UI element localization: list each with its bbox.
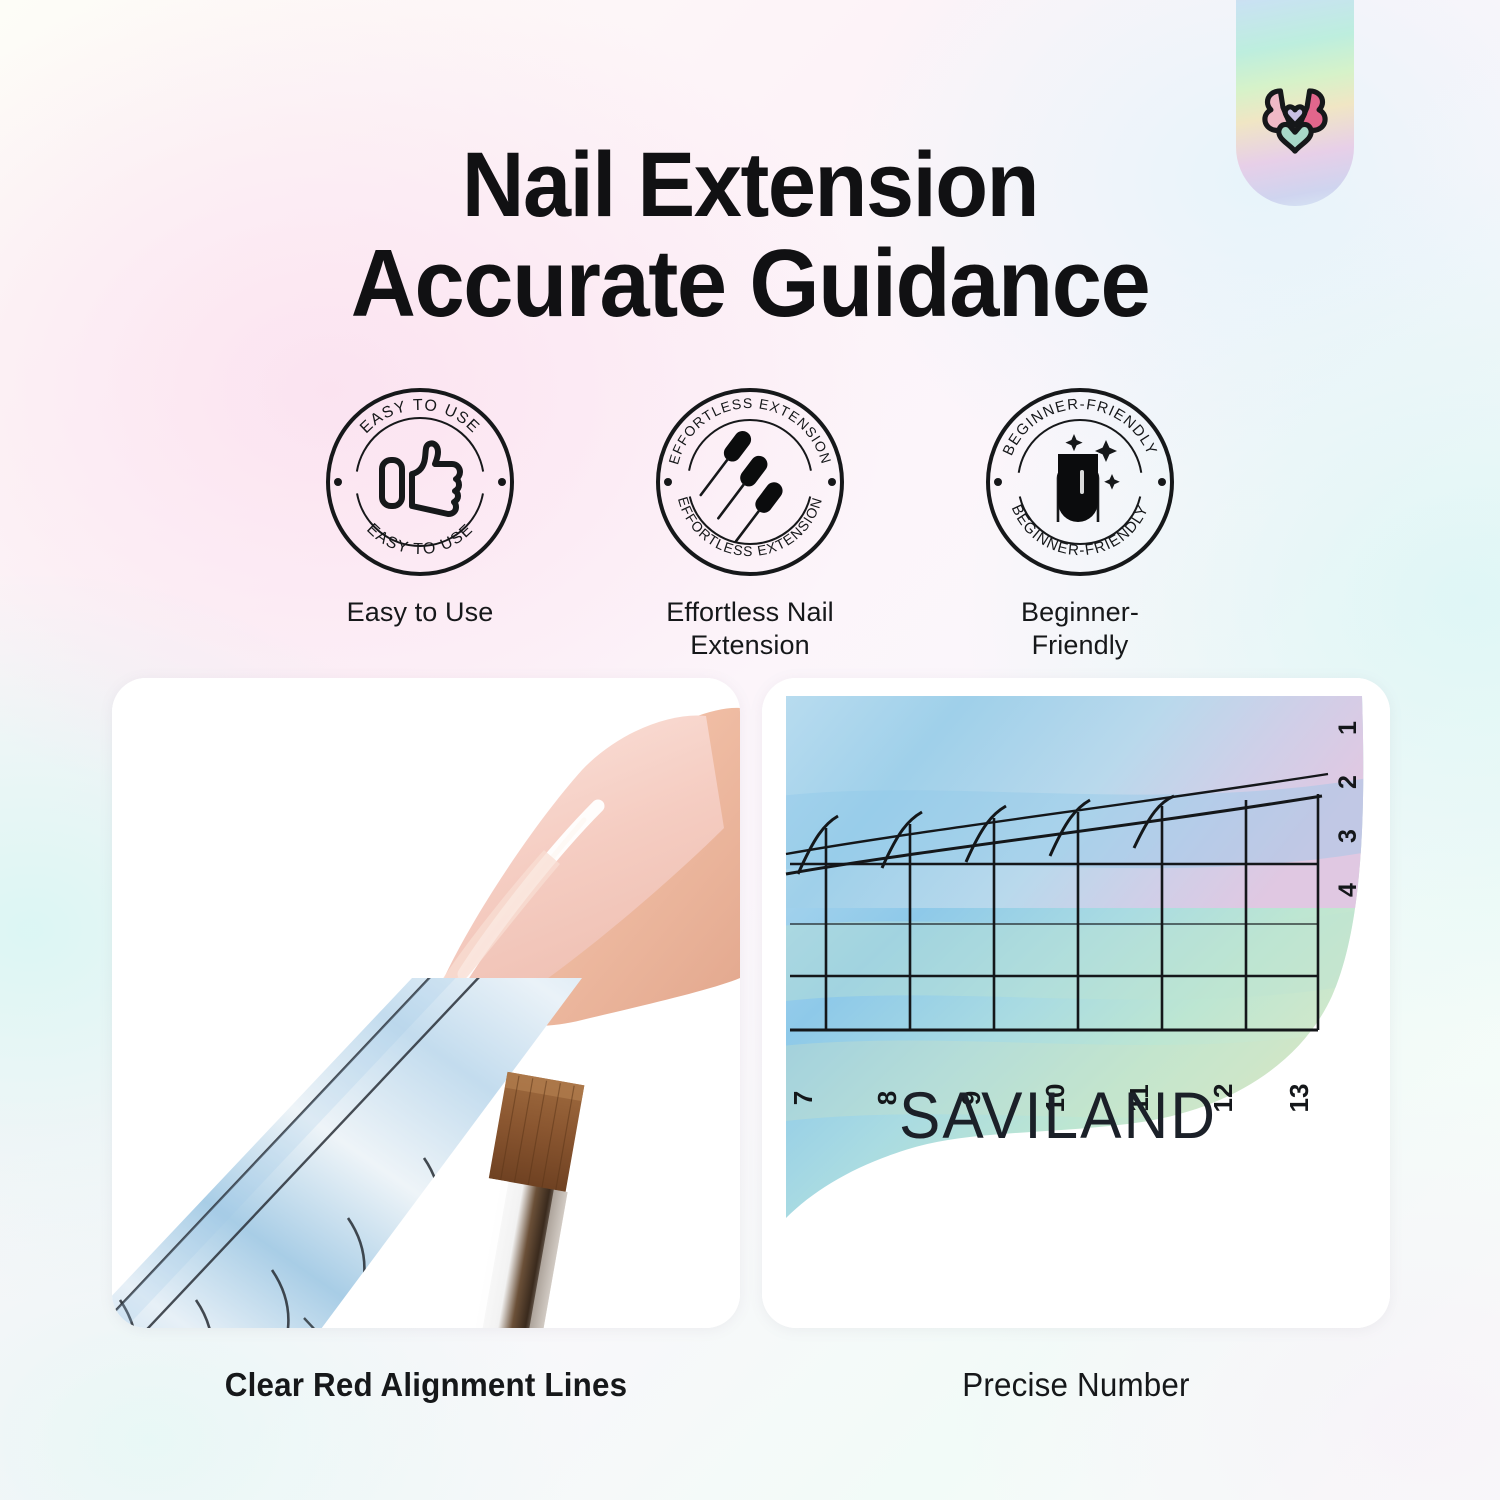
photo-card[interactable] [112,678,740,1328]
easy-to-use-seal-icon: EASY TO USE EASY TO USE [320,382,520,582]
page-title: Nail Extension Accurate Guidance [45,138,1455,334]
ruler-number: 7 [788,1091,818,1105]
ruler-number: 3 [1334,829,1362,843]
photo-card-alignment-lines: Clear Red Alignment Lines [112,678,740,1404]
photo-card-precise-number: 7 8 9 10 11 12 13 1 2 3 4 [762,678,1390,1404]
nail-form-with-brush-photo [112,678,740,1328]
svg-text:EFFORTLESS EXTENSION: EFFORTLESS EXTENSION [675,495,825,559]
headline-line-1: Nail Extension [45,138,1455,234]
badge-caption: Easy to Use [340,596,500,629]
beginner-friendly-seal-icon: BEGINNER-FRIENDLY BEGINNER-FRIENDLY [980,382,1180,582]
ruler-number: 1 [1334,721,1362,735]
brand-wordmark: SAVILAND [899,1078,1217,1152]
page-content: Nail Extension Accurate Guidance EASY TO… [0,0,1500,1500]
card-caption: Precise Number [778,1366,1375,1404]
feature-badges: EASY TO USE EASY TO USE Easy to Use [300,382,1200,662]
ruler-number: 2 [1334,775,1362,789]
ruler-number: 8 [872,1091,902,1105]
headline-line-2: Accurate Guidance [45,234,1455,334]
badge-caption: Beginner-Friendly [980,596,1180,662]
badge-easy-to-use: EASY TO USE EASY TO USE Easy to Use [300,382,540,662]
svg-text:EASY TO USE: EASY TO USE [363,521,476,559]
ruler-number: 4 [1334,883,1362,897]
badge-effortless-extension: EFFORTLESS EXTENSION EFFORTLESS EXTENSIO… [630,382,870,662]
seal-bottom-text: EFFORTLESS EXTENSION [675,495,825,559]
ruler-number: 13 [1284,1084,1314,1113]
product-photo-cards: Clear Red Alignment Lines [112,678,1390,1404]
badge-beginner-friendly: BEGINNER-FRIENDLY BEGINNER-FRIENDLY Begi… [960,382,1200,662]
svg-text:BEGINNER-FRIENDLY: BEGINNER-FRIENDLY [1000,396,1161,458]
photo-card[interactable]: 7 8 9 10 11 12 13 1 2 3 4 [762,678,1390,1328]
badge-caption: Effortless Nail Extension [630,596,870,662]
effortless-extension-seal-icon: EFFORTLESS EXTENSION EFFORTLESS EXTENSIO… [650,382,850,582]
seal-bottom-text: EASY TO USE [363,521,476,559]
svg-text:EFFORTLESS EXTENSION: EFFORTLESS EXTENSION [665,395,834,466]
nail-form-ruler-photo: 7 8 9 10 11 12 13 1 2 3 4 [762,678,1390,1328]
card-caption: Clear Red Alignment Lines [128,1366,725,1404]
seal-top-text: BEGINNER-FRIENDLY [1000,396,1161,458]
seal-top-text: EFFORTLESS EXTENSION [665,395,834,466]
